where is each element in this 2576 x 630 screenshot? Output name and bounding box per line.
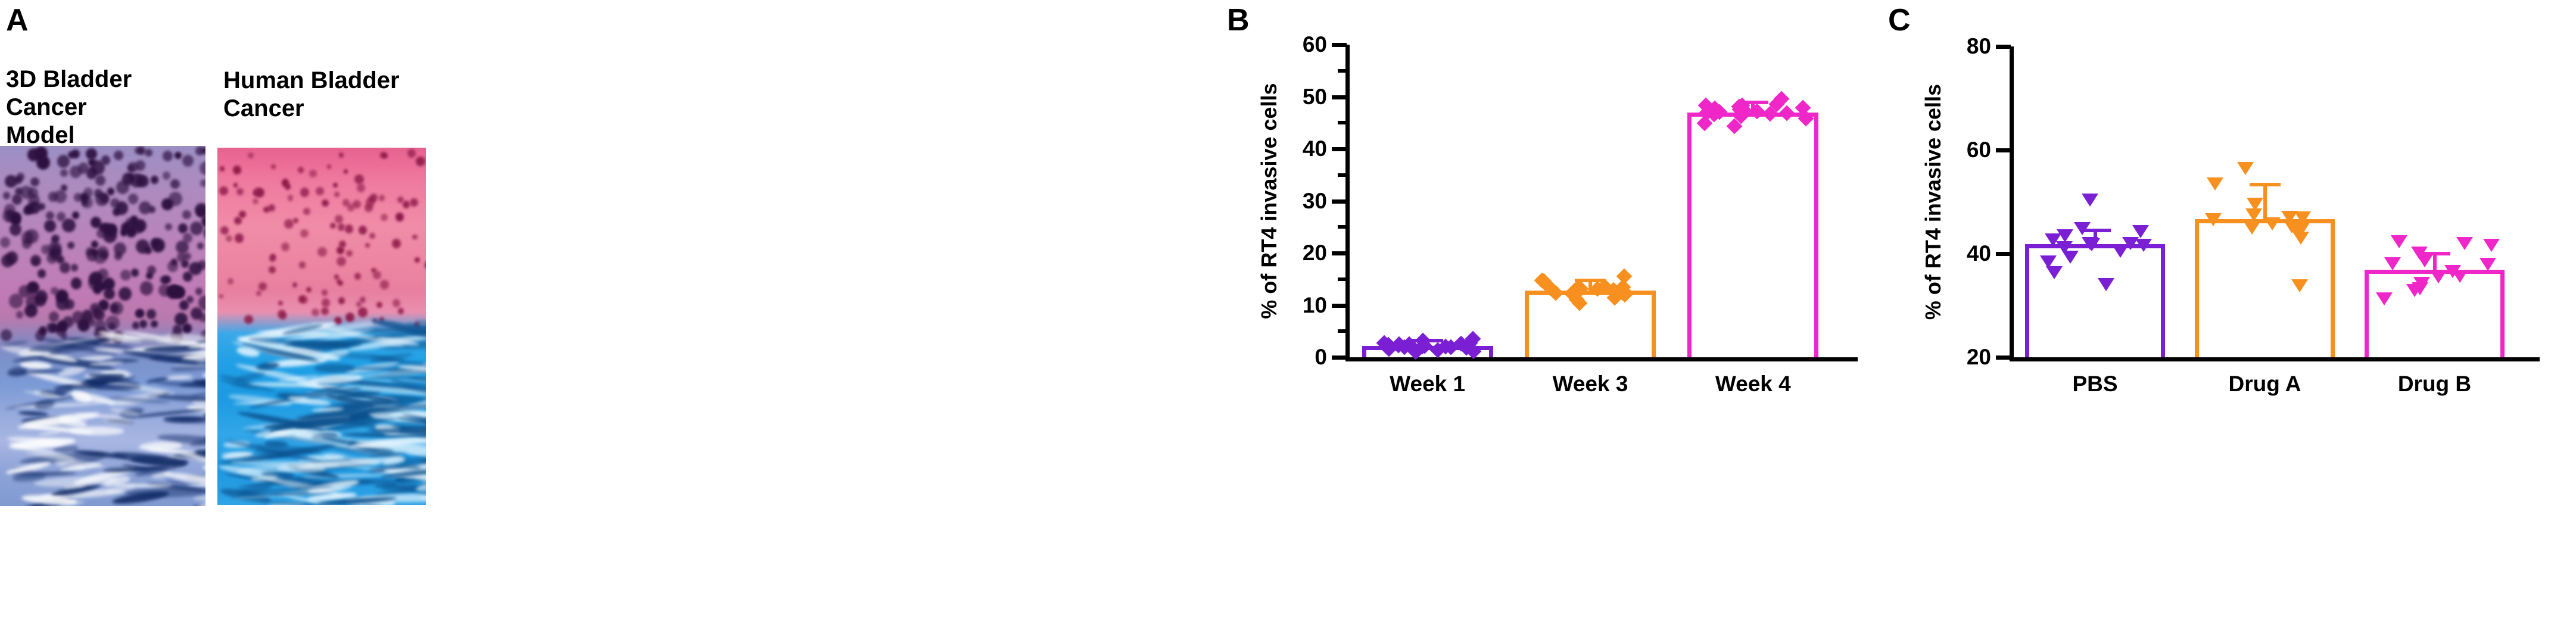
nucleus-speck <box>88 158 95 166</box>
nucleus-speck <box>1 254 14 267</box>
nucleus-speck <box>0 237 10 248</box>
stroma-streak <box>166 375 193 381</box>
nucleus-speck <box>354 174 364 184</box>
data-point <box>2480 258 2496 271</box>
nucleus-speck <box>373 271 381 279</box>
nucleus-speck <box>236 188 243 195</box>
y-axis-major-tick <box>1332 251 1347 255</box>
nucleus-speck <box>32 258 39 266</box>
nucleus-speck <box>271 164 276 169</box>
data-point <box>2391 235 2407 248</box>
nucleus-speck <box>330 223 336 229</box>
nucleus-speck <box>345 313 354 322</box>
data-point <box>2046 266 2063 279</box>
nucleus-speck <box>248 152 254 158</box>
data-point <box>2237 162 2254 175</box>
nucleus-speck <box>233 183 238 188</box>
micrograph-title-left: 3D Bladder CancerModel <box>6 66 203 150</box>
y-axis-major-tick <box>1996 252 2011 256</box>
nucleus-speck <box>116 180 129 194</box>
nucleus-speck <box>365 243 370 248</box>
nucleus-speck <box>200 161 205 175</box>
nucleus-speck <box>2 210 14 222</box>
data-point <box>2062 251 2079 264</box>
nucleus-speck <box>163 171 170 180</box>
stroma-streak <box>256 361 279 371</box>
nucleus-speck <box>298 167 304 173</box>
nucleus-speck <box>95 320 107 332</box>
nucleus-speck <box>292 282 297 287</box>
stroma-streak <box>14 403 102 409</box>
nucleus-speck <box>182 210 191 219</box>
nucleus-speck <box>278 310 285 318</box>
nucleus-speck <box>195 288 203 295</box>
stroma-streak <box>18 411 48 417</box>
nucleus-speck <box>44 220 56 232</box>
nucleus-speck <box>347 204 354 211</box>
nucleus-speck <box>333 183 338 188</box>
y-axis-title: % of RT4 invasive cells <box>1257 45 1282 357</box>
panel-c-bar-chart: 20406080% of RT4 invasive cellsPBSDrug A… <box>1882 0 2576 630</box>
nucleus-speck <box>101 223 111 233</box>
stroma-streak <box>71 390 92 404</box>
nucleus-speck <box>234 217 242 225</box>
nucleus-speck <box>51 287 58 295</box>
data-point <box>2205 213 2222 226</box>
nucleus-speck <box>358 307 367 317</box>
nucleus-speck <box>145 247 152 254</box>
nucleus-speck <box>146 272 153 279</box>
nucleus-speck <box>175 152 181 159</box>
nucleus-speck <box>71 277 82 289</box>
nucleus-speck <box>233 166 241 174</box>
nucleus-speck <box>140 281 154 295</box>
y-axis-major-tick <box>1332 304 1347 308</box>
nucleus-speck <box>306 287 312 292</box>
nucleus-speck <box>127 164 135 172</box>
nucleus-speck <box>46 211 54 220</box>
nucleus-speck <box>357 183 365 192</box>
nucleus-speck <box>235 233 244 243</box>
nucleus-speck <box>334 192 339 197</box>
nucleus-speck <box>114 151 123 160</box>
nucleus-speck <box>169 192 182 206</box>
data-point <box>2112 245 2129 258</box>
nucleus-speck <box>163 151 173 161</box>
x-axis-line <box>1345 357 1858 361</box>
nucleus-speck <box>282 179 289 186</box>
error-bar-stem <box>2263 183 2267 219</box>
nucleus-speck <box>48 192 58 202</box>
nucleus-speck <box>407 149 416 158</box>
y-axis-line <box>2010 46 2014 358</box>
nucleus-speck <box>219 294 223 298</box>
nucleus-speck <box>170 179 179 189</box>
nucleus-speck <box>309 170 317 177</box>
y-axis-major-tick <box>1996 45 2011 49</box>
nucleus-speck <box>190 222 203 235</box>
nucleus-speck <box>312 308 319 317</box>
nucleus-speck <box>70 166 82 178</box>
nucleus-speck <box>46 323 56 332</box>
stroma-streak <box>314 363 355 373</box>
nucleus-speck <box>98 282 107 291</box>
nucleus-speck <box>145 149 152 157</box>
nucleus-speck <box>183 272 192 281</box>
y-axis-major-tick <box>1332 147 1347 151</box>
stroma-streak <box>164 418 205 424</box>
nucleus-speck <box>71 149 80 158</box>
x-axis-tick-label: PBS <box>2010 373 2180 395</box>
stroma-streak <box>70 426 124 436</box>
nucleus-speck <box>269 266 276 273</box>
nucleus-speck <box>16 311 23 319</box>
nucleus-speck <box>72 211 79 219</box>
y-axis-title: % of RT4 invasive cells <box>1921 46 1946 357</box>
nucleus-speck <box>393 299 400 307</box>
nucleus-speck <box>166 285 180 299</box>
nucleus-speck <box>15 188 23 196</box>
x-axis-line <box>2010 357 2540 361</box>
nucleus-speck <box>164 276 171 283</box>
nucleus-speck <box>95 175 105 186</box>
nucleus-speck <box>198 260 205 270</box>
nucleus-speck <box>403 201 410 208</box>
nucleus-speck <box>410 198 418 207</box>
data-point <box>2456 237 2473 250</box>
nucleus-speck <box>62 219 76 233</box>
data-point <box>2416 254 2433 267</box>
nucleus-speck <box>198 295 205 310</box>
nucleus-speck <box>228 278 233 285</box>
nucleus-speck <box>258 282 266 291</box>
nucleus-speck <box>338 223 345 230</box>
data-point <box>2074 222 2091 235</box>
nucleus-speck <box>220 226 228 235</box>
nucleus-speck <box>151 176 158 183</box>
nucleus-speck <box>300 229 309 238</box>
nucleus-speck <box>120 270 130 280</box>
nucleus-speck <box>171 258 177 266</box>
nucleus-speck <box>183 233 192 243</box>
nucleus-speck <box>91 217 101 228</box>
nucleus-speck <box>392 239 401 248</box>
stroma-streak <box>34 398 55 410</box>
nucleus-speck <box>56 297 69 310</box>
y-axis-minor-tick <box>1338 225 1347 229</box>
nucleus-speck <box>61 185 67 192</box>
nucleus-speck <box>288 195 294 201</box>
y-axis-minor-tick <box>1338 329 1347 333</box>
nucleus-speck <box>72 311 85 324</box>
micrograph-title-left-line1: 3D Bladder Cancer <box>6 66 132 120</box>
nucleus-speck <box>327 164 331 169</box>
nucleus-speck <box>335 215 342 223</box>
data-point <box>2412 282 2428 295</box>
nucleus-speck <box>244 315 253 324</box>
micrograph-title-left-line2: Model <box>6 122 75 148</box>
nucleus-speck <box>303 208 310 215</box>
data-point <box>2483 239 2500 252</box>
nucleus-speck <box>3 192 11 199</box>
nucleus-speck <box>135 310 144 319</box>
nucleus-speck <box>56 326 66 336</box>
nucleus-speck <box>200 179 205 187</box>
nucleus-speck <box>220 166 225 171</box>
nucleus-speck <box>91 241 98 248</box>
micrograph-title-right-line2: Cancer <box>223 95 304 121</box>
nucleus-speck <box>114 242 126 255</box>
panel-b-bar-chart: 0102030405060% of RT4 invasive cellsWeek… <box>1221 0 1864 630</box>
error-bar-cap <box>2250 183 2281 186</box>
data-point <box>2082 194 2098 207</box>
nucleus-speck <box>132 322 139 329</box>
nucleus-speck <box>226 235 232 242</box>
nucleus-speck <box>186 296 194 303</box>
nucleus-speck <box>86 167 98 179</box>
nucleus-speck <box>119 287 132 301</box>
nucleus-speck <box>178 223 188 233</box>
nucleus-speck <box>300 188 309 197</box>
nucleus-speck <box>147 309 156 319</box>
nucleus-speck <box>131 269 139 277</box>
nucleus-speck <box>151 320 157 328</box>
nucleus-speck <box>369 233 375 239</box>
y-axis-major-tick <box>1332 355 1347 360</box>
nucleus-speck <box>379 195 385 201</box>
nucleus-speck <box>365 204 372 212</box>
nucleus-speck <box>86 148 97 160</box>
nucleus-speck <box>38 269 46 278</box>
nucleus-speck <box>344 169 348 174</box>
nucleus-speck <box>317 247 327 257</box>
nucleus-speck <box>299 261 306 269</box>
nucleus-speck <box>71 264 78 272</box>
nucleus-speck <box>281 242 290 251</box>
nucleus-speck <box>321 307 329 316</box>
nucleus-speck <box>322 289 328 296</box>
data-point <box>2294 211 2311 224</box>
nucleus-speck <box>139 320 147 328</box>
nucleus-speck <box>182 155 194 167</box>
nucleus-speck <box>105 316 120 330</box>
nucleus-speck <box>253 188 263 197</box>
data-point <box>2135 239 2152 252</box>
nucleus-speck <box>139 201 151 214</box>
micrograph-title-right: Human BladderCancer <box>223 67 420 123</box>
nucleus-speck <box>376 302 382 308</box>
nucleus-speck <box>316 187 323 195</box>
y-axis-major-tick <box>1996 355 2011 360</box>
nucleus-speck <box>130 220 144 234</box>
nucleus-speck <box>412 235 417 240</box>
nucleus-speck <box>24 304 38 318</box>
x-axis-tick-label: Week 4 <box>1672 373 1834 395</box>
nucleus-speck <box>345 224 353 233</box>
nucleus-speck <box>416 157 425 166</box>
nucleus-speck <box>278 301 283 305</box>
y-axis-major-tick <box>1332 199 1347 204</box>
stroma-streak <box>197 500 205 506</box>
nucleus-speck <box>284 219 293 229</box>
nucleus-speck <box>253 198 258 204</box>
nucleus-speck <box>30 177 39 186</box>
nucleus-speck <box>415 257 419 263</box>
nucleus-speck <box>48 241 62 256</box>
nucleus-speck <box>199 313 205 322</box>
nucleus-speck <box>395 213 404 222</box>
data-point <box>2291 279 2308 292</box>
nucleus-speck <box>268 204 275 212</box>
y-axis-minor-tick <box>1338 69 1347 73</box>
x-axis-tick-label: Drug B <box>2350 373 2519 395</box>
nucleus-speck <box>256 291 261 296</box>
data-point <box>2444 265 2461 278</box>
3d-bladder-cancer-model-micrograph <box>0 146 205 506</box>
y-axis-minor-tick <box>1338 277 1347 281</box>
data-point <box>2292 232 2309 245</box>
data-point <box>2098 278 2114 291</box>
nucleus-speck <box>359 226 367 234</box>
nucleus-speck <box>151 238 165 253</box>
nucleus-speck <box>14 176 21 184</box>
nucleus-speck <box>116 201 129 215</box>
nucleus-speck <box>107 188 114 195</box>
data-point <box>2384 257 2401 270</box>
data-point <box>2376 292 2393 305</box>
nucleus-speck <box>181 260 189 267</box>
stroma-streak <box>203 464 205 472</box>
nucleus-speck <box>339 152 344 157</box>
nucleus-speck <box>49 311 59 322</box>
micrograph-title-right-line1: Human Bladder <box>223 67 400 93</box>
nucleus-speck <box>398 308 404 314</box>
nucleus-speck <box>1 329 12 341</box>
data-point <box>2207 177 2223 191</box>
nucleus-speck <box>380 280 389 289</box>
nucleus-speck <box>60 262 70 273</box>
x-axis-tick-label: Week 1 <box>1346 373 1509 395</box>
nucleus-speck <box>35 290 48 303</box>
bar-drug-a <box>2195 219 2335 357</box>
x-axis-tick-label: Drug A <box>2180 373 2350 395</box>
nucleus-speck <box>356 301 362 307</box>
nucleus-speck <box>425 260 426 270</box>
nucleus-speck <box>337 247 344 254</box>
nucleus-speck <box>104 288 115 300</box>
nucleus-speck <box>82 197 93 208</box>
nucleus-speck <box>67 242 74 249</box>
nucleus-speck <box>128 194 138 204</box>
nucleus-speck <box>219 186 228 196</box>
bar-week-4 <box>1687 113 1818 357</box>
y-axis-minor-tick <box>1338 121 1347 124</box>
y-axis-minor-tick <box>1338 173 1347 177</box>
nucleus-speck <box>380 152 386 158</box>
human-bladder-cancer-micrograph <box>217 148 426 505</box>
nucleus-speck <box>57 155 70 168</box>
data-point <box>2083 238 2100 251</box>
nucleus-speck <box>21 231 34 244</box>
nucleus-speck <box>346 250 353 257</box>
data-point <box>2244 222 2260 235</box>
nucleus-speck <box>337 257 346 266</box>
panel-letter-a: A <box>6 5 29 36</box>
nucleus-speck <box>165 223 172 231</box>
y-axis-major-tick <box>1332 43 1347 47</box>
nucleus-speck <box>127 173 134 180</box>
y-axis-major-tick <box>1332 95 1347 99</box>
data-point <box>2264 217 2281 230</box>
bar-week-3 <box>1525 291 1656 357</box>
nucleus-speck <box>175 313 187 326</box>
nucleus-speck <box>293 218 298 223</box>
nucleus-speck <box>338 297 345 304</box>
x-axis-tick-label: Week 3 <box>1509 373 1671 395</box>
nucleus-speck <box>381 214 388 221</box>
nucleus-speck <box>195 203 205 217</box>
nucleus-speck <box>270 254 276 259</box>
nucleus-speck <box>60 169 68 177</box>
nucleus-speck <box>98 300 109 311</box>
data-point <box>2132 225 2149 238</box>
nucleus-speck <box>370 194 378 202</box>
nucleus-speck <box>39 326 47 335</box>
y-axis-major-tick <box>1996 148 2011 152</box>
nucleus-speck <box>27 148 40 161</box>
nucleus-speck <box>322 199 329 207</box>
data-point <box>2245 208 2262 222</box>
nucleus-speck <box>204 226 205 241</box>
stroma-streak <box>125 487 205 498</box>
nucleus-speck <box>197 242 204 249</box>
nucleus-speck <box>322 298 330 307</box>
nucleus-speck <box>354 273 361 280</box>
